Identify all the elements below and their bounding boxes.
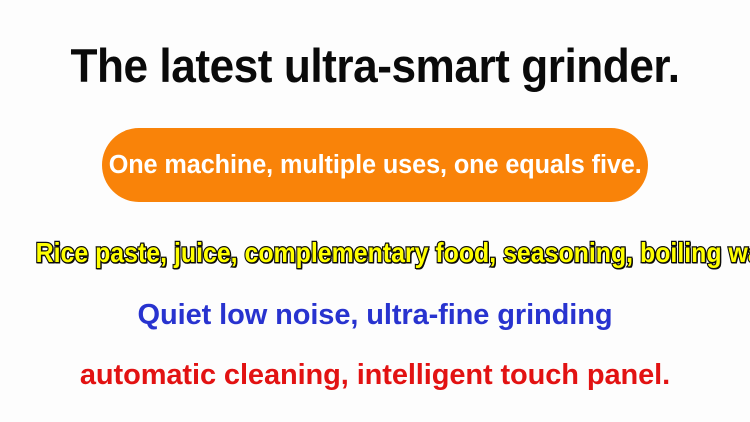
benefit-text-quiet-grinding: Quiet low noise, ultra-fine grinding <box>0 297 750 333</box>
page-title: The latest ultra-smart grinder. <box>23 38 728 94</box>
tagline-pill-container: One machine, multiple uses, one equals f… <box>0 128 750 202</box>
benefit-text-cleaning-panel: automatic cleaning, intelligent touch pa… <box>0 357 750 393</box>
tagline-pill: One machine, multiple uses, one equals f… <box>102 128 648 202</box>
feature-list-text: Rice paste, juice, complementary food, s… <box>36 236 715 270</box>
tagline-pill-label: One machine, multiple uses, one equals f… <box>109 150 642 180</box>
promo-banner: The latest ultra-smart grinder. One mach… <box>0 0 750 422</box>
